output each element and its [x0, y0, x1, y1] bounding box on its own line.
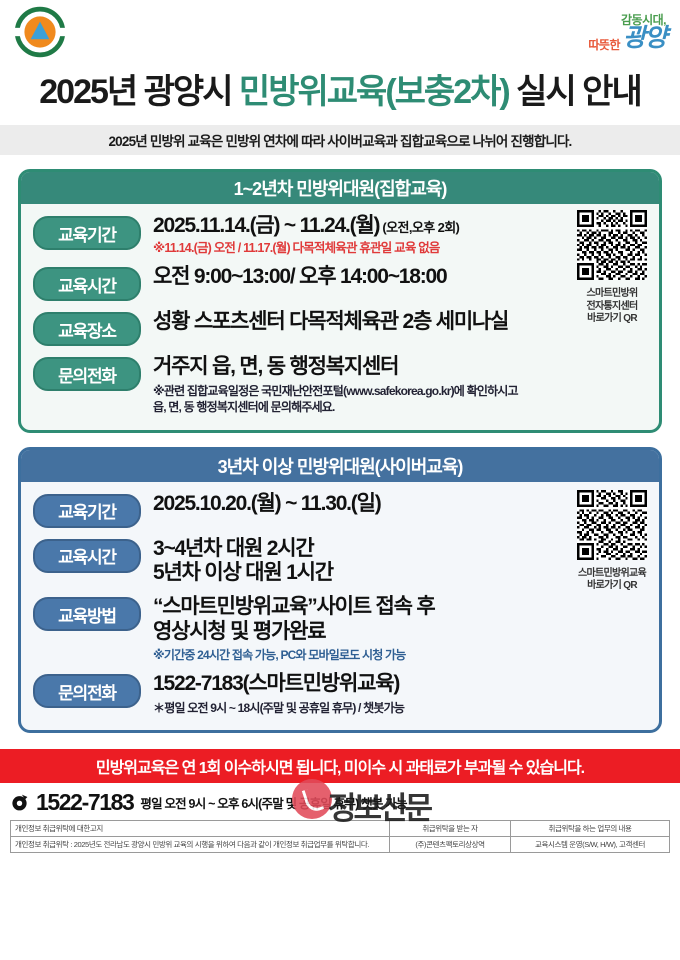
section1-heading: 1~2년차 민방위대원(집합교육)	[21, 172, 659, 204]
info-row-period: 교육기간 2025.11.14.(금) ~ 11.24.(월) (오전,오후 2…	[33, 214, 647, 256]
qr-caption-line1: 스마트민방위	[573, 288, 651, 301]
section2-body: 스마트민방위교육 바로가기 QR 교육기간 2025.10.20.(월) ~ 1…	[21, 482, 659, 731]
qr-code-icon[interactable]	[577, 490, 647, 560]
table-row: 개인정보 취급위탁에 대한고지 취급위탁을 받는 자 취급위탁을 하는 업무의 …	[11, 821, 670, 837]
section-group-cyber: 3년차 이상 민방위대원(사이버교육) 스마트민방위교육	[18, 447, 662, 734]
privacy-header-mid: 취급위탁을 받는 자	[390, 821, 511, 837]
subtitle-band: 2025년 민방위 교육은 민방위 연차에 따라 사이버교육과 집합교육으로 나…	[0, 125, 680, 155]
privacy-header-left: 개인정보 취급위탁에 대한고지	[11, 821, 390, 837]
civil-defense-emblem-icon	[14, 6, 66, 58]
privacy-body-mid: (주)콘텐츠팩토리상상역	[390, 837, 511, 853]
page-title: 2025년 광양시 민방위교육(보충2차) 실시 안내	[0, 64, 680, 113]
title-highlight: 민방위교육(보충2차)	[239, 73, 509, 111]
privacy-body-left: 개인정보 취급위탁 : 2025년도 전라남도 광양시 민방위 교육의 시행을 …	[11, 837, 390, 853]
contact-note-2: 읍, 면, 동 행정복지센터에 문의해주세요.	[153, 399, 647, 415]
city-brand-line2: 따뜻한	[588, 39, 620, 51]
privacy-notice-table: 개인정보 취급위탁에 대한고지 취급위탁을 받는 자 취급위탁을 하는 업무의 …	[10, 820, 670, 853]
cyber-value-method-line2: 영상시청 및 평가완료	[153, 620, 647, 645]
cyber-content-contact: 1522-7183(스마트민방위교육) ＊평일 오전 9시 ~ 18시(주말 및…	[153, 672, 647, 716]
cyber-row-method: 교육방법 “스마트민방위교육”사이트 접속 후 영상시청 및 평가완료 ※기간중…	[33, 595, 647, 663]
qr2-caption-line1: 스마트민방위교육	[573, 568, 651, 581]
footer: 1522-7183 평일 오전 9시 ~ 오후 6시(주말 및 공휴일 휴무) …	[0, 783, 680, 853]
qr-caption-line3: 바로가기 QR	[573, 313, 651, 326]
cyber-label-contact: 문의전화	[33, 674, 141, 708]
footer-call-row: 1522-7183 평일 오전 9시 ~ 오후 6시(주말 및 공휴일 휴무) …	[10, 789, 670, 816]
contact-note-1: ※관련 집합교육일정은 국민재난안전포털(www.safekorea.go.kr…	[153, 383, 647, 399]
info-row-time: 교육시간 오전 9:00~13:00/ 오후 14:00~18:00	[33, 265, 647, 301]
warning-banner: 민방위교육은 연 1회 이수하시면 됩니다, 미이수 시 과태료가 부과될 수 …	[0, 749, 680, 783]
info-row-place: 교육장소 성황 스포츠센터 다목적체육관 2층 세미나실	[33, 310, 647, 346]
cyber-row-contact: 문의전화 1522-7183(스마트민방위교육) ＊평일 오전 9시 ~ 18시…	[33, 672, 647, 716]
phone-icon	[10, 793, 29, 812]
qr-code-block-1[interactable]: 스마트민방위 전자통지센터 바로가기 QR	[573, 210, 651, 326]
poster-root: 감동시대, 따뜻한 광양 2025년 광양시 민방위교육(보충2차) 실시 안내…	[0, 0, 680, 960]
poster-header-logos: 감동시대, 따뜻한 광양	[0, 0, 680, 62]
cyber-row-period: 교육기간 2025.10.20.(월) ~ 11.30.(일)	[33, 492, 647, 528]
row-label-time: 교육시간	[33, 267, 141, 301]
row-content-contact: 거주지 읍, 면, 동 행정복지센터 ※관련 집합교육일정은 국민재난안전포털(…	[153, 355, 647, 415]
qr-code-icon[interactable]	[577, 210, 647, 280]
privacy-header-right: 취급위탁을 하는 업무의 내용	[511, 821, 670, 837]
row-label-contact: 문의전화	[33, 357, 141, 391]
cyber-value-method-line1: “스마트민방위교육”사이트 접속 후	[153, 595, 647, 620]
cyber-content-method: “스마트민방위교육”사이트 접속 후 영상시청 및 평가완료 ※기간중 24시간…	[153, 595, 647, 663]
table-row: 개인정보 취급위탁 : 2025년도 전라남도 광양시 민방위 교육의 시행을 …	[11, 837, 670, 853]
row-label-place: 교육장소	[33, 312, 141, 346]
section1-body: 스마트민방위 전자통지센터 바로가기 QR 교육기간 2025.11.14.(금…	[21, 204, 659, 430]
qr-caption-line2: 전자통지센터	[573, 301, 651, 314]
cyber-label-hours: 교육시간	[33, 539, 141, 573]
qr2-caption-line2: 바로가기 QR	[573, 580, 651, 593]
city-brand-name: 광양	[623, 26, 666, 51]
cyber-label-method: 교육방법	[33, 597, 141, 631]
period-main-value: 2025.11.14.(금) ~ 11.24.(월)	[153, 214, 379, 237]
privacy-body-right: 교육시스템 운영(S/W, H/W), 고객센터	[511, 837, 670, 853]
row-value-contact: 거주지 읍, 면, 동 행정복지센터	[153, 355, 647, 380]
footer-phone-hours: 평일 오전 9시 ~ 오후 6시(주말 및 공휴일 휴무) 챗봇 가능	[140, 793, 406, 812]
cyber-method-note: ※기간중 24시간 접속 가능, PC와 모바일로도 시청 가능	[153, 648, 647, 664]
cyber-row-hours: 교육시간 3~4년차 대원 2시간 5년차 이상 대원 1시간	[33, 537, 647, 587]
cyber-label-period: 교육기간	[33, 494, 141, 528]
info-row-contact: 문의전화 거주지 읍, 면, 동 행정복지센터 ※관련 집합교육일정은 국민재난…	[33, 355, 647, 415]
subtitle-text: 2025년 민방위 교육은 민방위 연차에 따라 사이버교육과 집합교육으로 나…	[108, 130, 571, 150]
qr-code-block-2[interactable]: 스마트민방위교육 바로가기 QR	[573, 490, 651, 593]
qr-caption-2: 스마트민방위교육 바로가기 QR	[573, 568, 651, 593]
cyber-value-contact: 1522-7183(스마트민방위교육)	[153, 672, 647, 697]
cyber-contact-note: ＊평일 오전 9시 ~ 18시(주말 및 공휴일 휴무) / 챗봇가능	[153, 700, 647, 716]
title-part-1: 2025년 광양시	[39, 73, 239, 111]
section2-heading: 3년차 이상 민방위대원(사이버교육)	[21, 450, 659, 482]
city-brand-logo: 감동시대, 따뜻한 광양	[588, 8, 666, 56]
period-extra-note: (오전,오후 2회)	[379, 220, 459, 235]
warning-text: 민방위교육은 연 1회 이수하시면 됩니다, 미이수 시 과태료가 부과될 수 …	[96, 754, 584, 778]
footer-phone-number[interactable]: 1522-7183	[36, 789, 133, 816]
qr-caption-1: 스마트민방위 전자통지센터 바로가기 QR	[573, 288, 651, 326]
row-label-period: 교육기간	[33, 216, 141, 250]
section-group-training: 1~2년차 민방위대원(집합교육) 스마트민방위 전자통지	[18, 169, 662, 433]
title-part-3: 실시 안내	[509, 73, 641, 111]
